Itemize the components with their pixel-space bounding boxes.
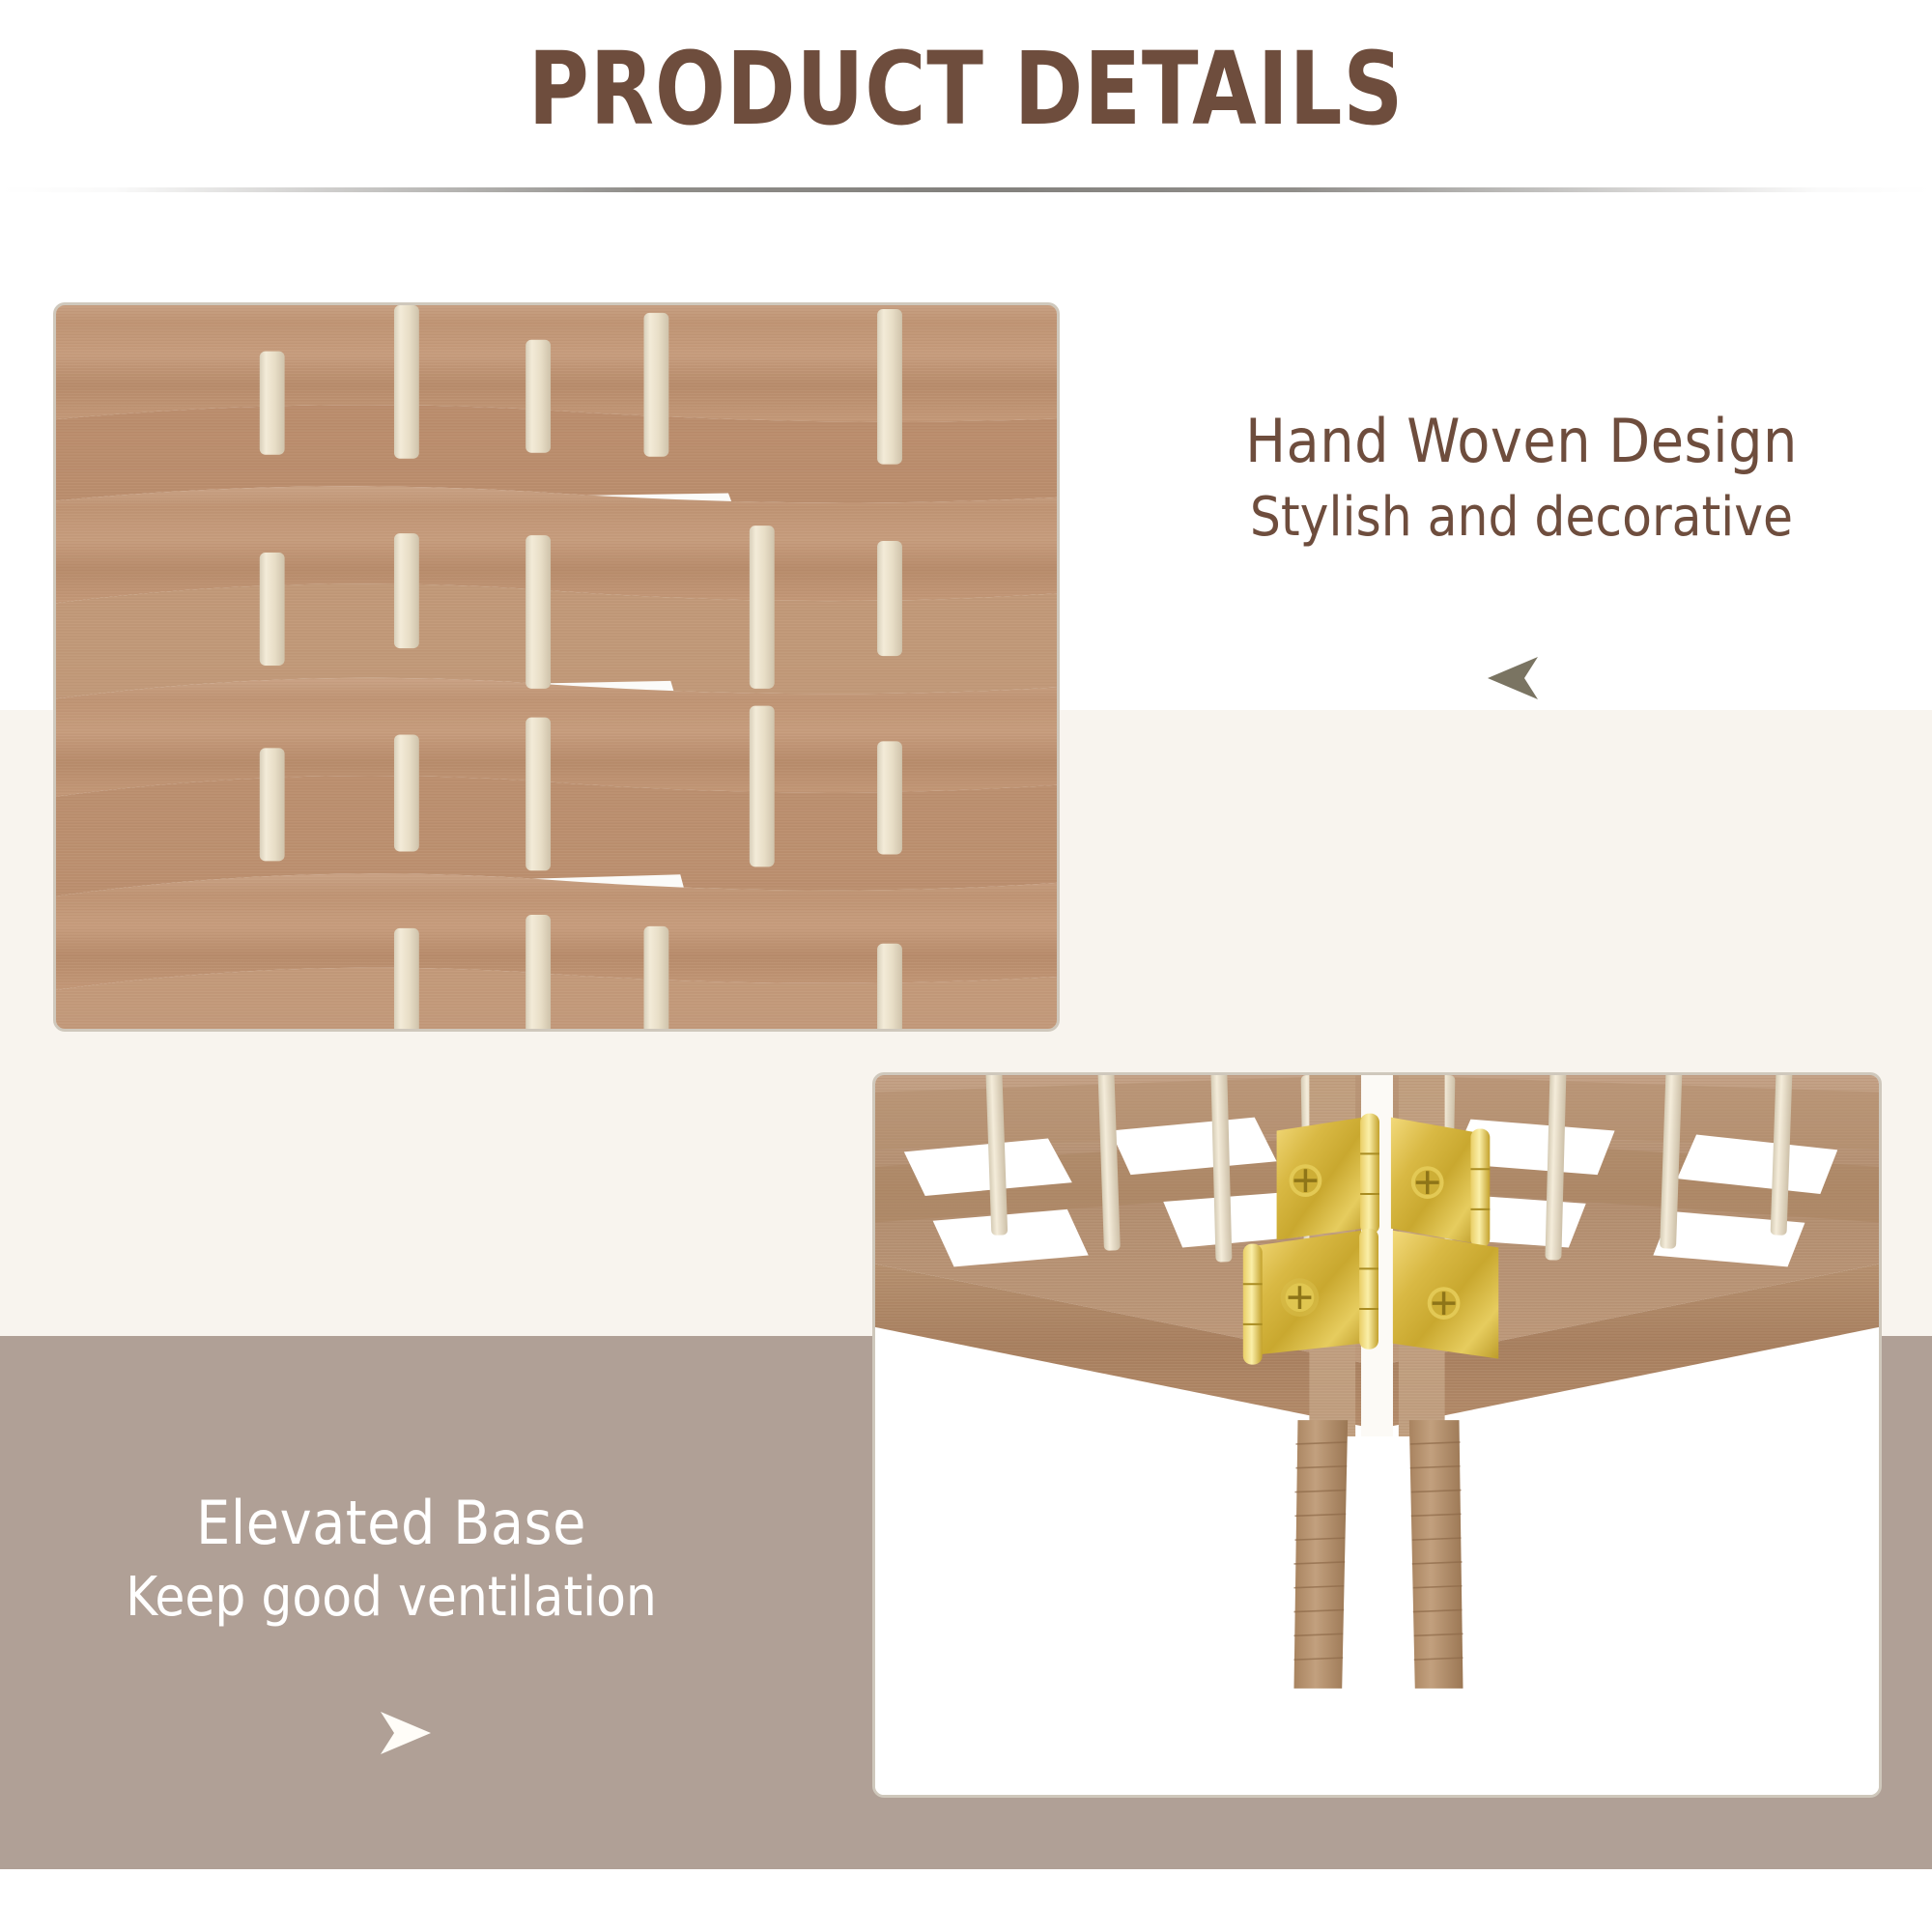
feature-subline: Stylish and decorative bbox=[1111, 484, 1932, 552]
product-details-infographic: PRODUCT DETAILS bbox=[0, 0, 1932, 1932]
arrow-left-icon bbox=[1486, 655, 1540, 701]
hinge-and-base-photo bbox=[872, 1072, 1882, 1798]
feature-headline: Hand Woven Design bbox=[1111, 406, 1932, 476]
feature-elevated-base: Elevated Base Keep good ventilation bbox=[19, 1488, 763, 1632]
hinge-and-legs-illustration bbox=[875, 1075, 1879, 1795]
feature-headline: Elevated Base bbox=[19, 1488, 763, 1558]
woven-texture-illustration bbox=[56, 305, 1057, 1029]
woven-texture-photo bbox=[53, 302, 1060, 1032]
title-divider bbox=[0, 187, 1932, 192]
page-title: PRODUCT DETAILS bbox=[77, 33, 1855, 145]
arrow-right-icon bbox=[379, 1710, 433, 1756]
brass-hinge-icon bbox=[1243, 1114, 1498, 1365]
feature-hand-woven-design: Hand Woven Design Stylish and decorative bbox=[1111, 406, 1932, 552]
feature-subline: Keep good ventilation bbox=[19, 1564, 763, 1632]
